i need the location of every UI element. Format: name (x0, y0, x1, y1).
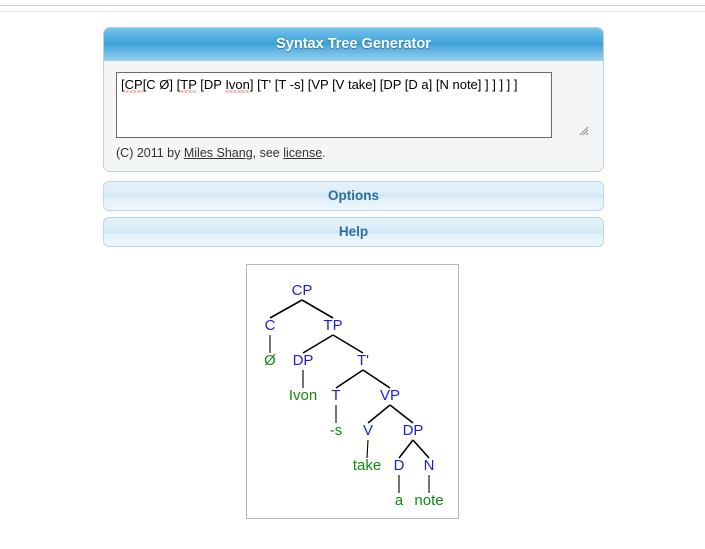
tree-edge (303, 335, 333, 353)
tree-node-c-null: Ø (264, 352, 276, 369)
tree-edge (333, 335, 363, 353)
tree-node-tbar: T' (357, 352, 369, 369)
panel-body: [CP[C Ø] [TP [DP Ivon] [T' [T -s] [VP [V… (104, 61, 603, 171)
tree-node-d: D (394, 457, 405, 474)
tree-node-cp: CP (292, 282, 313, 299)
credit-prefix: (C) 2011 by (116, 146, 184, 160)
tree-node-v: V (363, 422, 373, 439)
tree-edge (336, 370, 363, 388)
syntax-tree-svg: CPCØTPDPIvonT'T-sVPVtakeDPDaNnote (247, 265, 460, 520)
tree-node-take: take (353, 457, 381, 474)
tree-source-input[interactable]: [CP[C Ø] [TP [DP Ivon] [T' [T -s] [VP [V… (116, 72, 552, 138)
top-divider (0, 5, 705, 6)
tree-node-c: C (265, 317, 276, 334)
credit-suffix: . (322, 146, 325, 160)
textarea-wrapper: [CP[C Ø] [TP [DP Ivon] [T' [T -s] [VP [V… (116, 72, 591, 138)
credit-line: (C) 2011 by Miles Shang, see license. (116, 146, 591, 161)
tree-node-a: a (395, 492, 404, 509)
tree-edge (413, 440, 429, 458)
tree-node-tp: TP (323, 317, 342, 334)
tree-node-dp1: DP (293, 352, 314, 369)
tree-node-t-s: -s (330, 422, 343, 439)
tree-node-dp2: DP (403, 422, 424, 439)
credit-middle: , see (253, 146, 284, 160)
tree-edge (363, 370, 390, 388)
resize-handle-icon[interactable] (577, 124, 589, 136)
tree-edge (390, 405, 413, 423)
page-root: Syntax Tree Generator [CP[C Ø] [TP [DP I… (0, 0, 705, 549)
tree-edge (270, 300, 302, 318)
syntax-tree-canvas[interactable]: CPCØTPDPIvonT'T-sVPVtakeDPDaNnote (246, 264, 459, 519)
help-toggle-bar[interactable]: Help (103, 217, 604, 247)
tree-edge (399, 440, 413, 458)
top-divider-secondary (0, 11, 705, 12)
page-title: Syntax Tree Generator (104, 28, 603, 61)
author-link[interactable]: Miles Shang (184, 146, 253, 160)
tree-edge (367, 440, 368, 458)
tree-node-note: note (414, 492, 443, 509)
generator-panel: Syntax Tree Generator [CP[C Ø] [TP [DP I… (103, 27, 604, 172)
options-toggle-bar[interactable]: Options (103, 181, 604, 211)
tree-node-vp: VP (380, 387, 400, 404)
tree-node-ivon: Ivon (289, 387, 317, 404)
tree-edge (302, 300, 333, 318)
license-link[interactable]: license (283, 146, 322, 160)
tree-node-t: T (331, 387, 340, 404)
tree-edge (368, 405, 390, 423)
tree-node-n: N (424, 457, 435, 474)
